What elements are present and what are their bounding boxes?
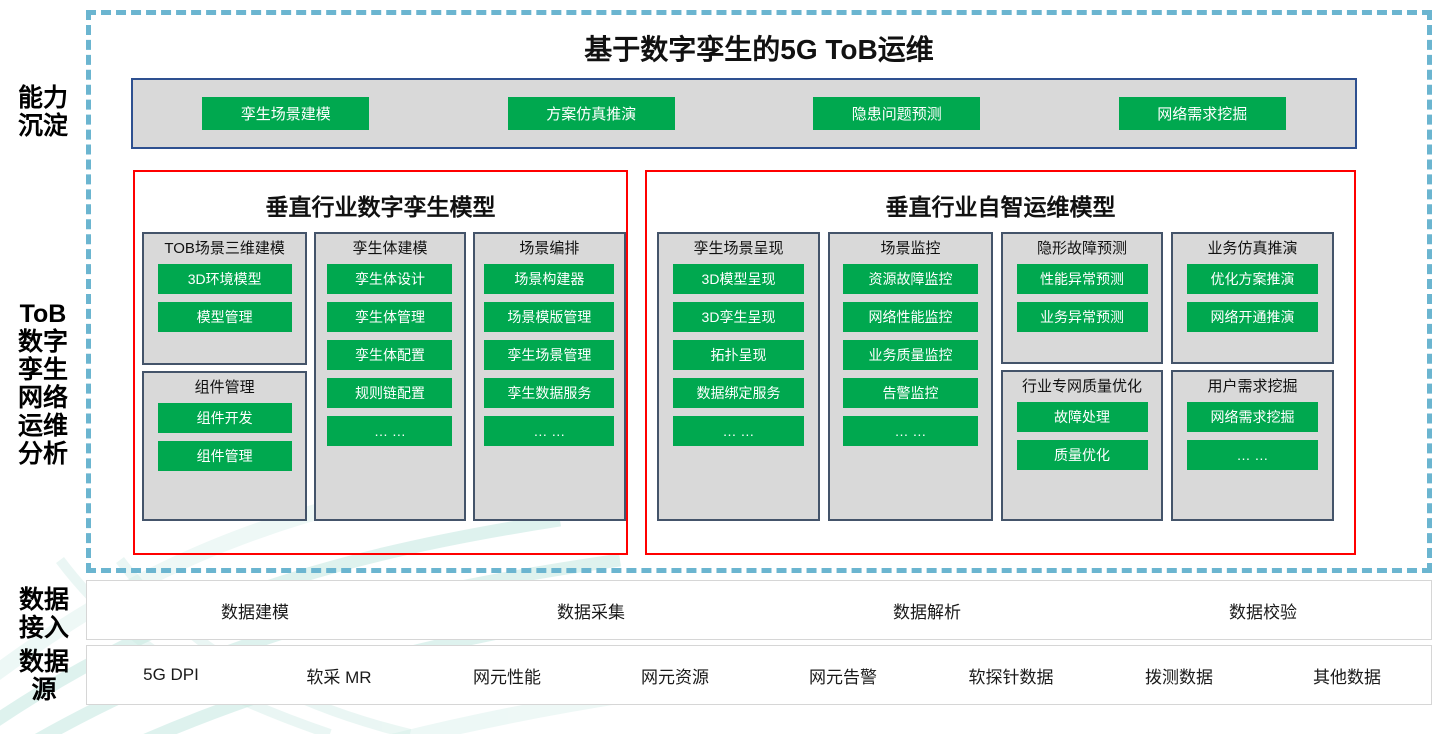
chip-col-scene-orchestration-0-1[interactable]: 场景模版管理 (484, 302, 614, 332)
data-access-label-line-1: 接入 (8, 614, 80, 642)
column-col-scene-presentation: 孪生场景呈现3D模型呈现3D孪生呈现拓扑呈现数据绑定服务… … (657, 232, 820, 523)
group-box-col-fault-prediction-0: 隐形故障预测性能异常预测业务异常预测 (1001, 232, 1163, 364)
chip-col-business-simulation-1-1[interactable]: … … (1187, 440, 1318, 470)
chip-col-scene-orchestration-0-4[interactable]: … … (484, 416, 614, 446)
side-label-data-access: 数据接入 (8, 586, 80, 642)
chip-col-scene-presentation-0-4[interactable]: … … (673, 416, 804, 446)
chip-col-scene-orchestration-0-2[interactable]: 孪生场景管理 (484, 340, 614, 370)
group-title-col-fault-prediction-0: 隐形故障预测 (1037, 234, 1127, 262)
panel-autonomous-ops-model: 垂直行业自智运维模型孪生场景呈现3D模型呈现3D孪生呈现拓扑呈现数据绑定服务… … (645, 170, 1356, 555)
data-source-cell-6[interactable]: 拨测数据 (1095, 663, 1263, 688)
chip-col-scene-monitoring-0-0[interactable]: 资源故障监控 (843, 264, 978, 294)
capability-box-0[interactable]: 孪生场景建模 (202, 97, 369, 130)
data-access-label-line-0: 数据 (8, 586, 80, 614)
group-box-col-scene-presentation-0: 孪生场景呈现3D模型呈现3D孪生呈现拓扑呈现数据绑定服务… … (657, 232, 820, 521)
data-source-cell-7[interactable]: 其他数据 (1263, 663, 1431, 688)
chip-col-business-simulation-1-0[interactable]: 网络需求挖掘 (1187, 402, 1318, 432)
chip-col-scene-monitoring-0-3[interactable]: 告警监控 (843, 378, 978, 408)
capability-box-1[interactable]: 方案仿真推演 (508, 97, 675, 130)
panel-title-autonomous-ops-model: 垂直行业自智运维模型 (647, 188, 1354, 222)
chip-col-scene-monitoring-0-2[interactable]: 业务质量监控 (843, 340, 978, 370)
chip-list-col-business-simulation-0: 优化方案推演网络开通推演 (1173, 262, 1332, 363)
group-title-col-scene-monitoring-0: 场景监控 (880, 234, 940, 262)
side-label-tob-analysis: ToB数字孪生网络运维分析 (4, 300, 82, 468)
chip-list-col-fault-prediction-1: 故障处理质量优化 (1003, 400, 1161, 520)
chip-list-col-fault-prediction-0: 性能异常预测业务异常预测 (1003, 262, 1161, 363)
data-source-cell-5[interactable]: 软探针数据 (927, 663, 1095, 688)
chip-list-col-scene-orchestration-0: 场景构建器场景模版管理孪生场景管理孪生数据服务… … (475, 262, 624, 520)
column-col-fault-prediction: 隐形故障预测性能异常预测业务异常预测行业专网质量优化故障处理质量优化 (1001, 232, 1163, 523)
side-label-capability: 能力沉淀 (6, 84, 80, 140)
group-title-col-business-simulation-0: 业务仿真推演 (1207, 234, 1297, 262)
column-col-scene-monitoring: 场景监控资源故障监控网络性能监控业务质量监控告警监控… … (828, 232, 993, 523)
group-box-col-business-simulation-1: 用户需求挖掘网络需求挖掘… … (1171, 370, 1334, 521)
chip-col-twin-entity-0-1[interactable]: 孪生体管理 (327, 302, 452, 332)
panel-twin-model: 垂直行业数字孪生模型TOB场景三维建模3D环境模型模型管理组件管理组件开发组件管… (133, 170, 628, 555)
capability-box-2[interactable]: 隐患问题预测 (813, 97, 980, 130)
chip-col-scene-presentation-0-0[interactable]: 3D模型呈现 (673, 264, 804, 294)
group-box-col-scene-monitoring-0: 场景监控资源故障监控网络性能监控业务质量监控告警监控… … (828, 232, 993, 521)
data-access-cell-3[interactable]: 数据校验 (1095, 598, 1431, 623)
chip-col-scene-presentation-0-2[interactable]: 拓扑呈现 (673, 340, 804, 370)
column-col-3d-modeling: TOB场景三维建模3D环境模型模型管理组件管理组件开发组件管理 (142, 232, 307, 523)
tob-label-line-5: 分析 (4, 440, 82, 468)
data-source-label-line-1: 源 (8, 676, 80, 704)
chip-col-scene-monitoring-0-4[interactable]: … … (843, 416, 978, 446)
chip-col-3d-modeling-1-0[interactable]: 组件开发 (158, 403, 292, 433)
group-box-col-scene-orchestration-0: 场景编排场景构建器场景模版管理孪生场景管理孪生数据服务… … (473, 232, 626, 521)
chip-col-fault-prediction-1-1[interactable]: 质量优化 (1017, 440, 1148, 470)
panel-columns-twin-model: TOB场景三维建模3D环境模型模型管理组件管理组件开发组件管理孪生体建模孪生体设… (135, 232, 626, 523)
column-col-scene-orchestration: 场景编排场景构建器场景模版管理孪生场景管理孪生数据服务… … (473, 232, 626, 523)
chip-list-col-3d-modeling-1: 组件开发组件管理 (144, 401, 305, 520)
group-box-col-3d-modeling-1: 组件管理组件开发组件管理 (142, 371, 307, 521)
chip-list-col-twin-entity-0: 孪生体设计孪生体管理孪生体配置规则链配置… … (316, 262, 463, 520)
data-source-cell-4[interactable]: 网元告警 (759, 663, 927, 688)
diagram-root: 能力沉淀 ToB数字孪生网络运维分析 数据接入 数据源 基于数字孪生的5G To… (0, 0, 1438, 734)
panel-title-twin-model: 垂直行业数字孪生模型 (135, 188, 626, 222)
chip-col-3d-modeling-1-1[interactable]: 组件管理 (158, 441, 292, 471)
chip-col-twin-entity-0-0[interactable]: 孪生体设计 (327, 264, 452, 294)
capability-band: 孪生场景建模方案仿真推演隐患问题预测网络需求挖掘 (131, 78, 1357, 149)
chip-col-3d-modeling-0-1[interactable]: 模型管理 (158, 302, 292, 332)
group-title-col-3d-modeling-1: 组件管理 (195, 373, 255, 401)
chip-list-col-3d-modeling-0: 3D环境模型模型管理 (144, 262, 305, 364)
chip-col-scene-monitoring-0-1[interactable]: 网络性能监控 (843, 302, 978, 332)
column-col-business-simulation: 业务仿真推演优化方案推演网络开通推演用户需求挖掘网络需求挖掘… … (1171, 232, 1334, 523)
data-source-row: 5G DPI软采 MR网元性能网元资源网元告警软探针数据拨测数据其他数据 (86, 645, 1432, 705)
group-box-col-fault-prediction-1: 行业专网质量优化故障处理质量优化 (1001, 370, 1163, 521)
chip-col-business-simulation-0-1[interactable]: 网络开通推演 (1187, 302, 1318, 332)
tob-label-line-3: 网络 (4, 384, 82, 412)
data-source-cell-1[interactable]: 软采 MR (255, 663, 423, 688)
column-col-twin-entity: 孪生体建模孪生体设计孪生体管理孪生体配置规则链配置… … (314, 232, 465, 523)
capability-label-line-0: 能力 (6, 84, 80, 112)
data-source-cell-3[interactable]: 网元资源 (591, 663, 759, 688)
chip-list-col-business-simulation-1: 网络需求挖掘… … (1173, 400, 1332, 520)
data-access-cell-0[interactable]: 数据建模 (87, 598, 423, 623)
capability-box-3[interactable]: 网络需求挖掘 (1119, 97, 1286, 130)
tob-label-line-1: 数字 (4, 328, 82, 356)
chip-list-col-scene-presentation-0: 3D模型呈现3D孪生呈现拓扑呈现数据绑定服务… … (659, 262, 818, 520)
tob-label-line-4: 运维 (4, 412, 82, 440)
group-title-col-scene-presentation-0: 孪生场景呈现 (693, 234, 783, 262)
group-title-col-scene-orchestration-0: 场景编排 (519, 234, 579, 262)
capability-slot-3: 网络需求挖掘 (1050, 97, 1356, 130)
chip-col-fault-prediction-1-0[interactable]: 故障处理 (1017, 402, 1148, 432)
chip-col-scene-orchestration-0-3[interactable]: 孪生数据服务 (484, 378, 614, 408)
capability-slot-2: 隐患问题预测 (744, 97, 1050, 130)
chip-col-3d-modeling-0-0[interactable]: 3D环境模型 (158, 264, 292, 294)
capability-slot-0: 孪生场景建模 (133, 97, 439, 130)
chip-list-col-scene-monitoring-0: 资源故障监控网络性能监控业务质量监控告警监控… … (830, 262, 991, 520)
data-source-label-line-0: 数据 (8, 648, 80, 676)
capability-label-line-1: 沉淀 (6, 112, 80, 140)
chip-col-scene-orchestration-0-0[interactable]: 场景构建器 (484, 264, 614, 294)
chip-col-twin-entity-0-2[interactable]: 孪生体配置 (327, 340, 452, 370)
capability-slot-1: 方案仿真推演 (439, 97, 745, 130)
tob-label-line-0: ToB (4, 300, 82, 328)
group-box-col-3d-modeling-0: TOB场景三维建模3D环境模型模型管理 (142, 232, 307, 365)
chip-col-business-simulation-0-0[interactable]: 优化方案推演 (1187, 264, 1318, 294)
data-access-row: 数据建模数据采集数据解析数据校验 (86, 580, 1432, 640)
data-access-cell-1[interactable]: 数据采集 (423, 598, 759, 623)
group-title-col-twin-entity-0: 孪生体建模 (352, 234, 427, 262)
tob-label-line-2: 孪生 (4, 356, 82, 384)
side-label-data-source: 数据源 (8, 648, 80, 704)
panel-columns-autonomous-ops-model: 孪生场景呈现3D模型呈现3D孪生呈现拓扑呈现数据绑定服务… …场景监控资源故障监… (647, 232, 1354, 523)
data-source-cell-0[interactable]: 5G DPI (87, 665, 255, 685)
chip-col-fault-prediction-0-1[interactable]: 业务异常预测 (1017, 302, 1148, 332)
chip-col-twin-entity-0-3[interactable]: 规则链配置 (327, 378, 452, 408)
group-title-col-3d-modeling-0: TOB场景三维建模 (164, 234, 285, 262)
data-source-cell-2[interactable]: 网元性能 (423, 663, 591, 688)
group-box-col-twin-entity-0: 孪生体建模孪生体设计孪生体管理孪生体配置规则链配置… … (314, 232, 465, 521)
group-title-col-business-simulation-1: 用户需求挖掘 (1207, 372, 1297, 400)
chip-col-fault-prediction-0-0[interactable]: 性能异常预测 (1017, 264, 1148, 294)
chip-col-scene-presentation-0-3[interactable]: 数据绑定服务 (673, 378, 804, 408)
chip-col-twin-entity-0-4[interactable]: … … (327, 416, 452, 446)
group-box-col-business-simulation-0: 业务仿真推演优化方案推演网络开通推演 (1171, 232, 1334, 364)
chip-col-scene-presentation-0-1[interactable]: 3D孪生呈现 (673, 302, 804, 332)
page-title: 基于数字孪生的5G ToB运维 (86, 28, 1432, 68)
data-access-cell-2[interactable]: 数据解析 (759, 598, 1095, 623)
group-title-col-fault-prediction-1: 行业专网质量优化 (1022, 372, 1142, 400)
